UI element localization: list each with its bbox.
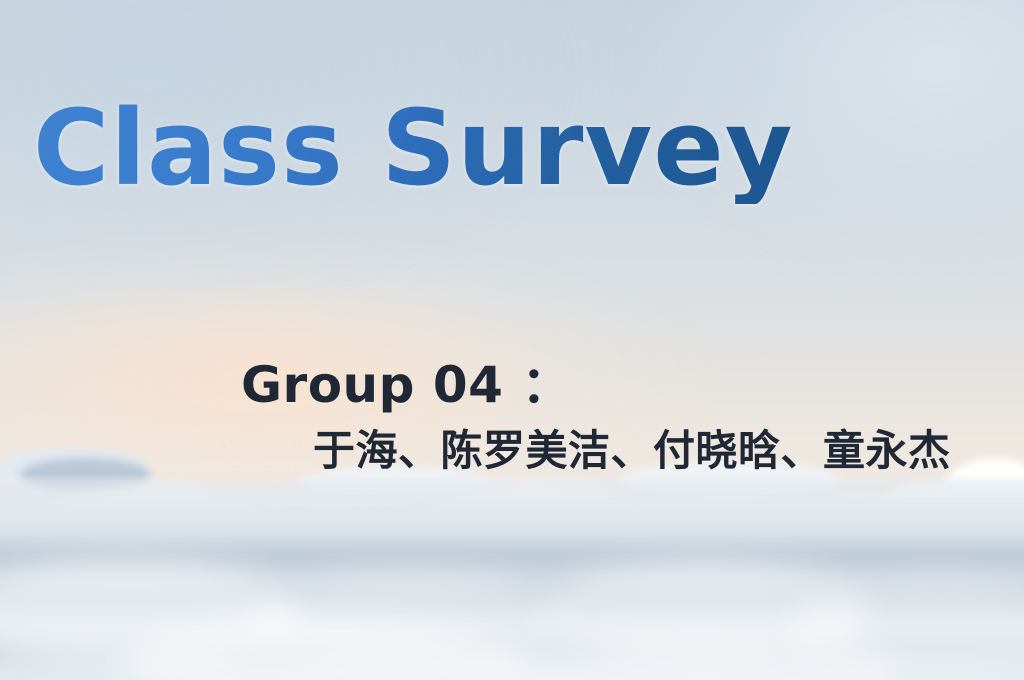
cloud-sea [0, 440, 1024, 680]
subtitle-block: Group 04 ： 于海、陈罗美洁、付晓晗、童永杰 [241, 360, 951, 472]
member-names: 于海、陈罗美洁、付晓晗、童永杰 [313, 430, 951, 472]
presentation-slide: Class Survey Group 04 ： 于海、陈罗美洁、付晓晗、童永杰 [0, 0, 1024, 680]
page-title: Class Survey [33, 92, 794, 204]
group-label: Group 04 ： [241, 360, 951, 410]
